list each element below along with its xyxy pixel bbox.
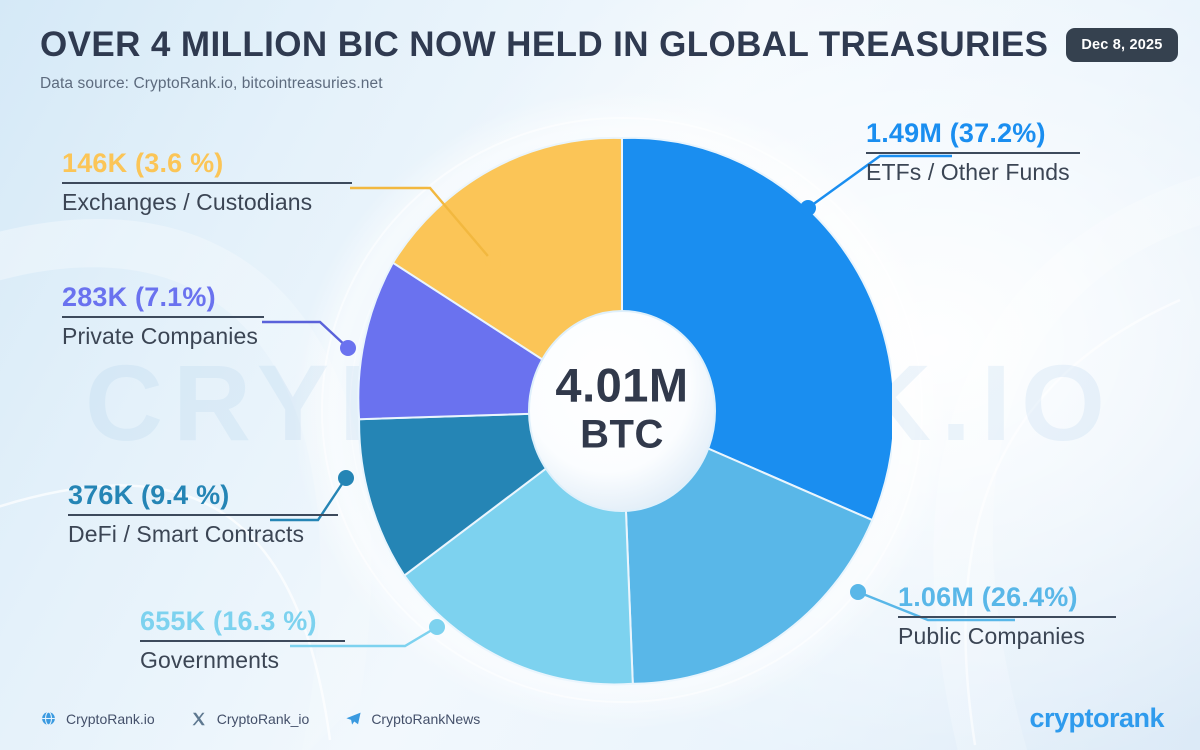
callout-rule-defi <box>68 514 338 516</box>
globe-icon <box>40 710 57 727</box>
social-link-telegram[interactable]: CryptoRankNews <box>345 710 480 727</box>
callout-value-exchanges: 146K (3.6 %) <box>62 148 352 182</box>
telegram-icon <box>345 710 362 727</box>
callout-governments[interactable]: 655K (16.3 %) Governments <box>140 606 345 675</box>
callout-private-companies[interactable]: 283K (7.1%) Private Companies <box>62 282 264 351</box>
callout-value-private: 283K (7.1%) <box>62 282 264 316</box>
cryptorank-logo[interactable]: cryptorank <box>1029 703 1164 734</box>
callout-value-public: 1.06M (26.4%) <box>898 582 1116 616</box>
callout-rule-etfs <box>866 152 1080 154</box>
callout-value-etfs: 1.49M (37.2%) <box>866 118 1080 152</box>
header: OVER 4 MILLION BIC NOW HELD IN GLOBAL TR… <box>40 26 1164 93</box>
callout-rule-private <box>62 316 264 318</box>
callout-rule-public <box>898 616 1116 618</box>
callout-value-defi: 376K (9.4 %) <box>68 480 338 514</box>
callout-rule-governments <box>140 640 345 642</box>
social-links: CryptoRank.io CryptoRank_io CryptoRankNe… <box>40 710 480 727</box>
social-link-x[interactable]: CryptoRank_io <box>191 710 310 727</box>
infographic-canvas: CRYPTORANK.IO OVER 4 MILLION BIC NOW HEL… <box>0 0 1200 750</box>
data-source-subtitle: Data source: CryptoRank.io, bitcointreas… <box>40 75 1164 93</box>
callout-name-etfs: ETFs / Other Funds <box>866 159 1080 187</box>
social-link-website[interactable]: CryptoRank.io <box>40 710 155 727</box>
footer: CryptoRank.io CryptoRank_io CryptoRankNe… <box>40 703 1164 734</box>
callout-etfs-other-funds[interactable]: 1.49M (37.2%) ETFs / Other Funds <box>866 118 1080 187</box>
callout-name-governments: Governments <box>140 647 345 675</box>
callout-exchanges-custodians[interactable]: 146K (3.6 %) Exchanges / Custodians <box>62 148 352 217</box>
callout-defi-smart-contracts[interactable]: 376K (9.4 %) DeFi / Smart Contracts <box>68 480 338 549</box>
callout-rule-exchanges <box>62 182 352 184</box>
callout-name-private: Private Companies <box>62 323 264 351</box>
x-twitter-icon <box>191 710 208 727</box>
callout-name-exchanges: Exchanges / Custodians <box>62 189 352 217</box>
social-label-x: CryptoRank_io <box>217 711 310 727</box>
donut-chart-svg <box>352 130 892 690</box>
social-label-telegram: CryptoRankNews <box>371 711 480 727</box>
callout-name-public: Public Companies <box>898 623 1116 651</box>
date-badge: Dec 8, 2025 <box>1066 28 1177 62</box>
social-label-website: CryptoRank.io <box>66 711 155 727</box>
callout-value-governments: 655K (16.3 %) <box>140 606 345 640</box>
callout-public-companies[interactable]: 1.06M (26.4%) Public Companies <box>898 582 1116 651</box>
donut-chart: 4.01M BTC <box>352 130 892 690</box>
callout-name-defi: DeFi / Smart Contracts <box>68 521 338 549</box>
page-title: OVER 4 MILLION BIC NOW HELD IN GLOBAL TR… <box>40 26 1048 65</box>
